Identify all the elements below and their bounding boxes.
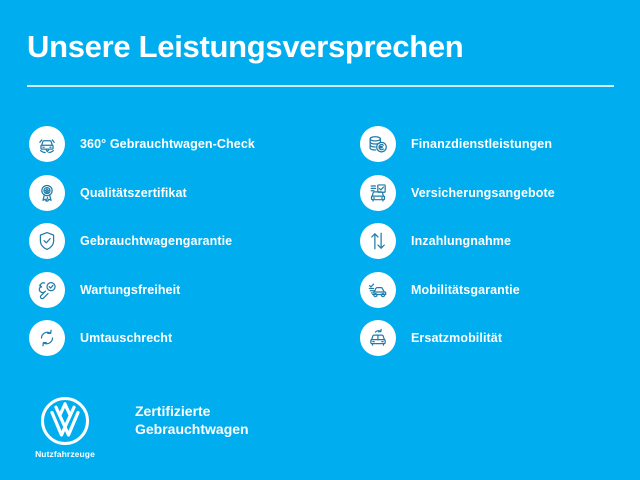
footer-tagline-line1: Zertifizierte	[135, 402, 249, 420]
list-item[interactable]: Mobilitätsgarantie	[360, 272, 640, 308]
list-item-label: Finanzdienstleistungen	[411, 137, 552, 151]
title-divider	[27, 85, 614, 87]
list-item[interactable]: Qualitätszertifikat	[29, 175, 319, 211]
replacement-car-icon	[360, 320, 396, 356]
shield-check-icon	[29, 223, 65, 259]
vw-logo-block: Nutzfahrzeuge	[29, 396, 101, 459]
coins-euro-icon	[360, 126, 396, 162]
list-item[interactable]: Ersatzmobilität	[360, 320, 640, 356]
list-item-label: Gebrauchtwagengarantie	[80, 234, 232, 248]
vw-logo-subbrand: Nutzfahrzeuge	[35, 449, 95, 459]
list-item[interactable]: Umtauschrecht	[29, 320, 319, 356]
list-item[interactable]: Gebrauchtwagengarantie	[29, 223, 319, 259]
footer-tagline-line2: Gebrauchtwagen	[135, 420, 249, 438]
list-item-label: Qualitätszertifikat	[80, 186, 187, 200]
list-item[interactable]: Finanzdienstleistungen	[360, 126, 640, 162]
promise-column-right: Finanzdienstleistungen Versicherungsange…	[360, 126, 640, 369]
slide-root: Unsere Leistungsversprechen 360° Gebrauc…	[0, 0, 640, 480]
wrench-check-icon	[29, 272, 65, 308]
up-down-arrows-icon	[360, 223, 396, 259]
list-item-label: Versicherungsangebote	[411, 186, 555, 200]
footer-tagline: Zertifizierte Gebrauchtwagen	[135, 402, 249, 438]
list-item-label: Inzahlungnahme	[411, 234, 511, 248]
promise-column-left: 360° Gebrauchtwagen-Check Qualitätszerti…	[29, 126, 319, 369]
list-item[interactable]: Inzahlungnahme	[360, 223, 640, 259]
car-360-check-icon	[29, 126, 65, 162]
list-item[interactable]: Versicherungsangebote	[360, 175, 640, 211]
list-item[interactable]: 360° Gebrauchtwagen-Check	[29, 126, 319, 162]
vw-logo-icon	[40, 396, 90, 446]
list-item-label: 360° Gebrauchtwagen-Check	[80, 137, 255, 151]
quality-seal-icon	[29, 175, 65, 211]
list-item-label: Wartungsfreiheit	[80, 283, 180, 297]
tow-truck-check-icon	[360, 272, 396, 308]
list-item[interactable]: Wartungsfreiheit	[29, 272, 319, 308]
list-item-label: Umtauschrecht	[80, 331, 172, 345]
car-document-check-icon	[360, 175, 396, 211]
list-item-label: Mobilitätsgarantie	[411, 283, 520, 297]
footer-brand-lockup: Nutzfahrzeuge Zertifizierte Gebrauchtwag…	[29, 396, 249, 459]
page-title: Unsere Leistungsversprechen	[27, 28, 463, 66]
exchange-arrows-icon	[29, 320, 65, 356]
list-item-label: Ersatzmobilität	[411, 331, 502, 345]
